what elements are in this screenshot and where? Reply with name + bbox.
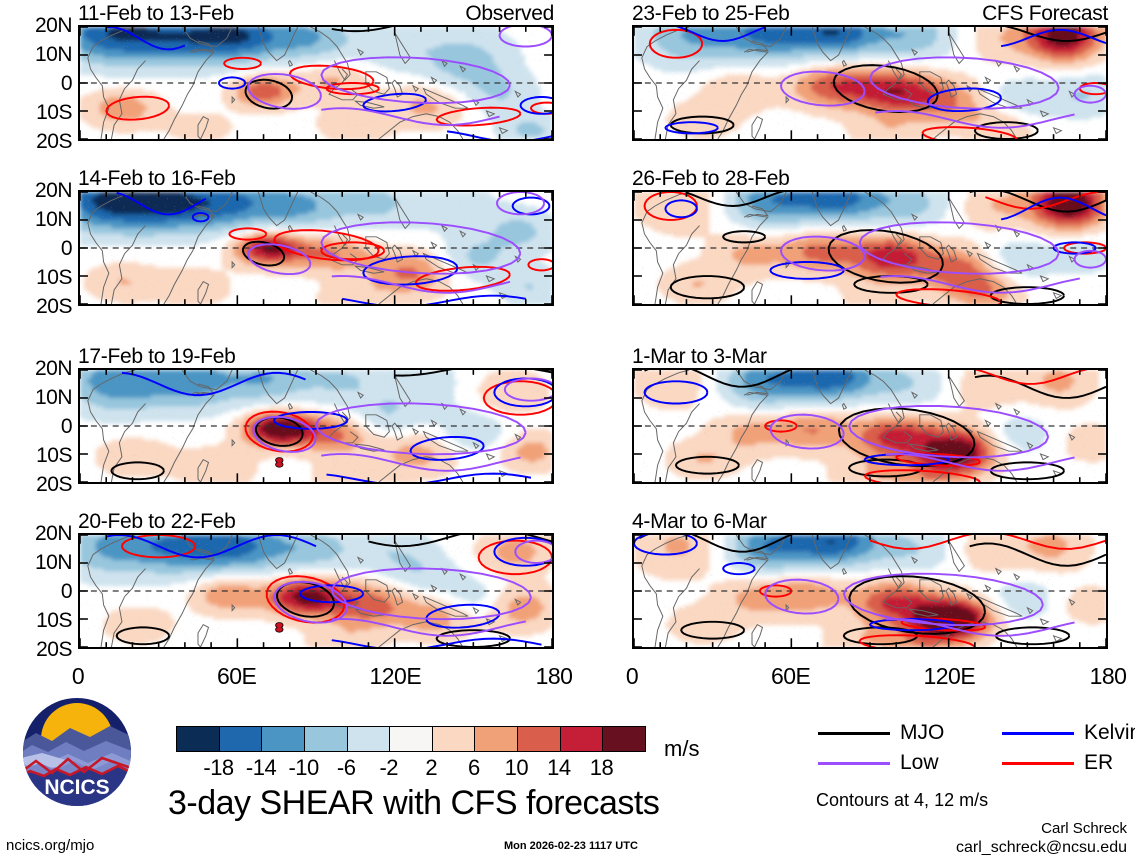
y-axis-label: 20S	[0, 131, 72, 152]
map-panel[interactable]	[78, 368, 554, 484]
author-email[interactable]: carl_schreck@ncsu.edu	[956, 840, 1127, 856]
legend-line-mjo	[818, 732, 890, 735]
map-panel[interactable]	[632, 25, 1108, 141]
y-axis-label: 10S	[0, 610, 72, 631]
colorbar-swatch	[602, 727, 645, 751]
colorbar-swatch	[432, 727, 475, 751]
x-axis-label: 60E	[197, 665, 277, 688]
y-axis-label: 20N	[0, 523, 72, 544]
legend-line-er	[1002, 762, 1074, 765]
y-axis-label: 0	[0, 416, 72, 437]
timestamp: Mon 2026-02-23 1117 UTC	[504, 841, 638, 852]
y-axis-label: 20N	[0, 180, 72, 201]
legend-line-low	[818, 762, 890, 765]
y-axis-label: 10N	[0, 552, 72, 573]
y-axis-label: 10N	[0, 387, 72, 408]
y-axis-label: 10S	[0, 267, 72, 288]
panel-title: 1-Mar to 3-Mar	[632, 346, 767, 367]
y-axis-label: 10N	[0, 209, 72, 230]
colorbar-tick-label: 18	[575, 757, 627, 779]
colorbar-swatch	[389, 727, 432, 751]
x-axis-label: 120E	[909, 665, 989, 688]
legend-line-kelvin-x2	[1002, 732, 1074, 735]
colorbar-swatch	[474, 727, 517, 751]
y-axis-label: 20S	[0, 296, 72, 317]
ncics-logo: NCICS	[22, 697, 132, 807]
column-header: Observed	[334, 3, 554, 24]
map-panel[interactable]	[78, 25, 554, 141]
y-axis-label: 10S	[0, 445, 72, 466]
y-axis-label: 20S	[0, 474, 72, 495]
y-axis-label: 0	[0, 73, 72, 94]
panel-title: 23-Feb to 25-Feb	[632, 3, 789, 24]
panel-title: 4-Mar to 6-Mar	[632, 511, 767, 532]
main-title: 3-day SHEAR with CFS forecasts	[168, 786, 659, 820]
legend-label: ER	[1084, 752, 1113, 773]
cyclone-symbol	[276, 623, 283, 633]
legend-label: MJO	[900, 722, 944, 743]
colorbar-swatch	[304, 727, 347, 751]
panel-title: 20-Feb to 22-Feb	[78, 511, 235, 532]
y-axis-label: 0	[0, 238, 72, 259]
x-axis-label: 0	[592, 665, 672, 688]
colorbar-swatch	[177, 727, 219, 751]
map-panel[interactable]	[632, 190, 1108, 306]
y-axis-label: 0	[0, 581, 72, 602]
legend-label: Kelvin x2	[1084, 722, 1135, 743]
panel-title: 26-Feb to 28-Feb	[632, 168, 789, 189]
site-url[interactable]: ncics.org/mjo	[6, 838, 94, 853]
panel-title: 14-Feb to 16-Feb	[78, 168, 235, 189]
column-header: CFS Forecast	[888, 3, 1108, 24]
colorbar-swatch	[219, 727, 262, 751]
map-panel[interactable]	[78, 190, 554, 306]
legend-label: Low	[900, 752, 939, 773]
x-axis-label: 0	[38, 665, 118, 688]
y-axis-label: 20S	[0, 639, 72, 660]
cyclone-symbol	[276, 458, 283, 468]
contour-note: Contours at 4, 12 m/s	[816, 791, 988, 809]
y-axis-label: 10N	[0, 44, 72, 65]
panel-title: 17-Feb to 19-Feb	[78, 346, 235, 367]
colorbar-swatch	[347, 727, 390, 751]
colorbar-swatch	[560, 727, 603, 751]
y-axis-label: 10S	[0, 102, 72, 123]
map-panel[interactable]	[632, 368, 1108, 484]
map-panel[interactable]	[78, 533, 554, 649]
author-name: Carl Schreck	[1041, 821, 1127, 836]
colorbar-units: m/s	[664, 738, 699, 760]
y-axis-label: 20N	[0, 358, 72, 379]
x-axis-label: 60E	[751, 665, 831, 688]
colorbar-swatch	[261, 727, 304, 751]
y-axis-label: 20N	[0, 15, 72, 36]
x-axis-label: 180	[514, 665, 594, 688]
map-panel[interactable]	[632, 533, 1108, 649]
x-axis-label: 180	[1068, 665, 1135, 688]
logo-text: NCICS	[44, 776, 109, 799]
colorbar	[176, 726, 646, 752]
x-axis-label: 120E	[355, 665, 435, 688]
colorbar-swatch	[517, 727, 560, 751]
panel-title: 11-Feb to 13-Feb	[78, 3, 234, 24]
